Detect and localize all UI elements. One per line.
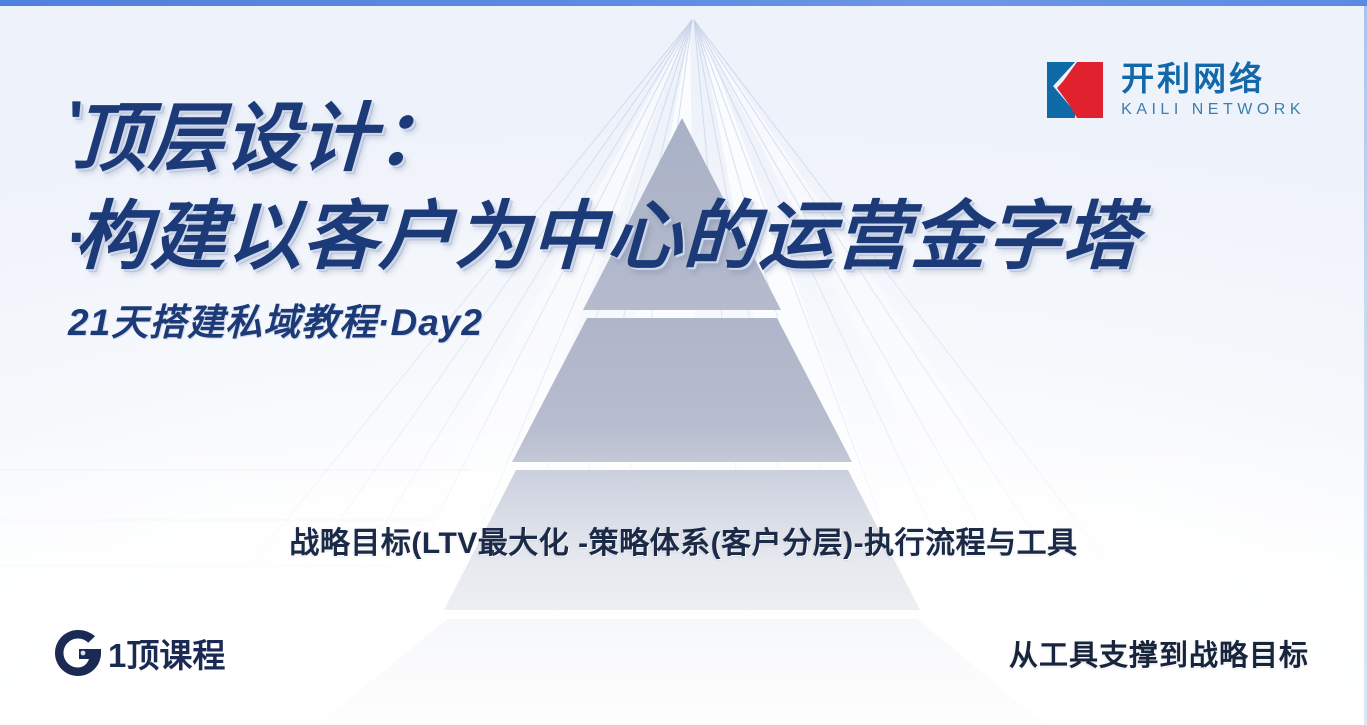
course-label: 1顶课程	[108, 629, 225, 677]
brand-text-block: 开利网络 KAILI NETWORK	[1121, 62, 1305, 118]
page-title-line-2: .构建以客户为中心的运营金字塔	[66, 180, 1141, 278]
page-subtitle: 21天搭建私域教程·Day2	[68, 292, 1139, 346]
top-accent-rule	[0, 0, 1367, 6]
pyramid-tier-4	[318, 619, 1046, 725]
brand-name-en: KAILI NETWORK	[1121, 102, 1305, 118]
slide-canvas: '顶层设计： .构建以客户为中心的运营金字塔 21天搭建私域教程·Day2 战略…	[0, 0, 1367, 725]
title-line-2-text: 构建以客户为中心的运营金字塔	[74, 194, 1141, 278]
course-logo: 1顶课程	[52, 627, 225, 679]
title-line-1-text: 顶层设计：	[71, 96, 454, 180]
page-title-line-1: '顶层设计：	[66, 82, 1141, 180]
brand-logo: 开利网络 KAILI NETWORK	[1045, 60, 1305, 120]
headline-block: '顶层设计： .构建以客户为中心的运营金字塔 21天搭建私域教程·Day2	[68, 82, 1139, 346]
kaili-k-mark-icon	[1045, 60, 1105, 120]
tagline: 从工具支撑到战略目标	[1009, 632, 1309, 674]
center-band: 战略目标(LTV最大化 -策略体系(客户分层)-执行流程与工具	[0, 518, 1367, 562]
g1-circle-mark-icon	[52, 627, 104, 679]
brand-name-cn: 开利网络	[1121, 62, 1305, 95]
center-band-text: 战略目标(LTV最大化 -策略体系(客户分层)-执行流程与工具	[289, 518, 1077, 562]
